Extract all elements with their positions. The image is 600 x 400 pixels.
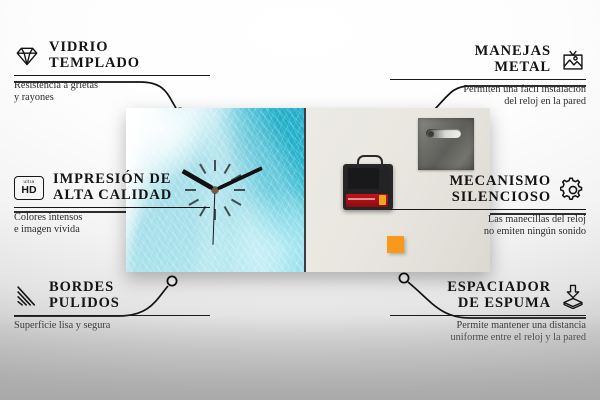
ultra-hd-big-label: HD bbox=[21, 185, 36, 196]
callout-rule bbox=[390, 79, 586, 80]
callout-rule bbox=[14, 75, 210, 76]
callout-desc-line2: y rayones bbox=[14, 92, 210, 104]
framed-picture-icon bbox=[560, 47, 586, 73]
foam-spacer-icon bbox=[560, 283, 586, 309]
callout-title-line1: MANEJAS bbox=[475, 44, 551, 60]
callout-title-line1: VIDRIO bbox=[49, 40, 140, 56]
callout-title-line1: ESPACIADOR bbox=[447, 280, 551, 296]
callout-desc-line2: uniforme entre el reloj y la pared bbox=[390, 332, 586, 344]
callout-title-line1: BORDES bbox=[49, 280, 120, 296]
diamond-icon bbox=[14, 43, 40, 69]
callout-impresion-alta-calidad: ultra HD IMPRESIÓN DE ALTA CALIDAD Color… bbox=[14, 172, 210, 237]
callout-title-line2: METAL bbox=[475, 60, 551, 76]
hanger-keyhole-slot bbox=[426, 129, 461, 138]
callout-title-line1: IMPRESIÓN DE bbox=[53, 172, 172, 188]
callout-desc-line1: Permite mantener una distancia bbox=[390, 320, 586, 332]
callout-desc-line1: Superficie lisa y segura bbox=[14, 320, 210, 332]
callout-rule bbox=[14, 315, 210, 316]
clock-center-pin bbox=[212, 187, 218, 193]
ultra-hd-badge-icon: ultra HD bbox=[14, 176, 44, 200]
callout-mecanismo-silencioso: MECANISMO SILENCIOSO Las manecillas del … bbox=[390, 174, 586, 239]
battery bbox=[346, 194, 388, 207]
mechanism-hanging-loop bbox=[357, 155, 383, 169]
callout-desc-line2: e imagen vívida bbox=[14, 224, 210, 236]
polished-edge-icon bbox=[14, 283, 40, 309]
callout-title-line2: DE ESPUMA bbox=[447, 296, 551, 312]
metal-hanger-plate bbox=[418, 118, 474, 170]
callout-bordes-pulidos: BORDES PULIDOS Superficie lisa y segura bbox=[14, 280, 210, 332]
callout-desc-line1: Colores intensos bbox=[14, 212, 210, 224]
callout-vidrio-templado: VIDRIO TEMPLADO Resistencia a grietas y … bbox=[14, 40, 210, 105]
mechanism-housing bbox=[348, 168, 379, 188]
callout-rule bbox=[390, 209, 586, 210]
quartz-mechanism bbox=[343, 164, 393, 210]
callout-title-line2: ALTA CALIDAD bbox=[53, 188, 172, 204]
callout-desc-line2: del reloj en la pared bbox=[390, 96, 586, 108]
callout-title-line2: SILENCIOSO bbox=[449, 190, 551, 206]
callout-title-line2: TEMPLADO bbox=[49, 56, 140, 72]
callout-desc-line1: Permiten una fácil instalación bbox=[390, 84, 586, 96]
callout-manejas-metal: MANEJAS METAL Permiten una fácil instala… bbox=[390, 44, 586, 109]
gear-icon bbox=[560, 177, 586, 203]
callout-rule bbox=[14, 207, 210, 208]
callout-rule bbox=[390, 315, 586, 316]
callout-desc-line1: Resistencia a grietas bbox=[14, 80, 210, 92]
callout-espaciador-de-espuma: ESPACIADOR DE ESPUMA Permite mantener un… bbox=[390, 280, 586, 345]
infographic-canvas: VIDRIO TEMPLADO Resistencia a grietas y … bbox=[0, 0, 600, 400]
callout-desc-line2: no emiten ningún sonido bbox=[390, 226, 586, 238]
callout-title-line1: MECANISMO bbox=[449, 174, 551, 190]
callout-title-line2: PULIDOS bbox=[49, 296, 120, 312]
callout-desc-line1: Las manecillas del reloj bbox=[390, 214, 586, 226]
